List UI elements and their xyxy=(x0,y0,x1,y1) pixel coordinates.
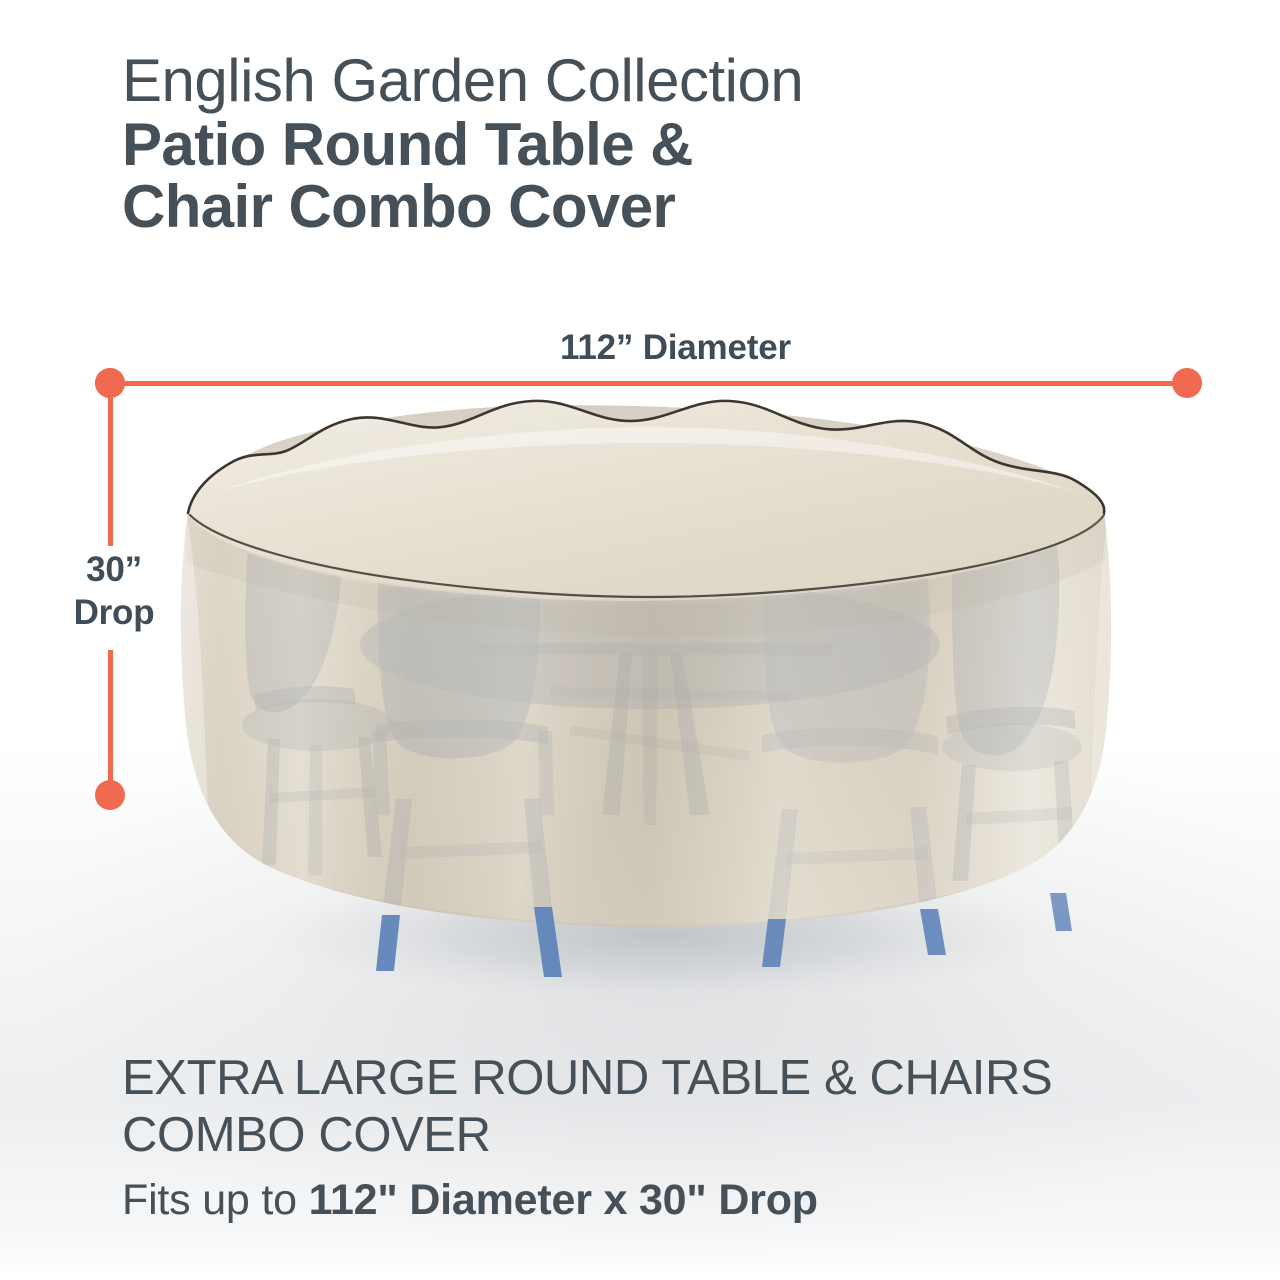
product-description: EXTRA LARGE ROUND TABLE & CHAIRS COMBO C… xyxy=(122,1050,1222,1226)
drop-label: 30” Drop xyxy=(44,548,184,634)
description-title-line-2: COMBO COVER xyxy=(122,1107,1222,1164)
fits-prefix: Fits up to xyxy=(122,1176,309,1224)
drop-dimension-line-upper xyxy=(108,381,113,546)
drop-dot-top xyxy=(95,368,125,398)
diameter-label: 112” Diameter xyxy=(560,328,791,368)
fits-value: 112" Diameter x 30" Drop xyxy=(309,1176,818,1224)
drop-label-line-2: Drop xyxy=(44,591,184,634)
diameter-dimension-line xyxy=(110,381,1190,386)
fits-up-to-line: Fits up to 112" Diameter x 30" Drop xyxy=(122,1174,1222,1226)
drop-dot-bottom xyxy=(95,780,125,810)
description-title-line-1: EXTRA LARGE ROUND TABLE & CHAIRS xyxy=(122,1050,1222,1107)
drop-dimension-line-lower xyxy=(108,650,113,800)
diameter-dot-right xyxy=(1172,368,1202,398)
drop-label-line-1: 30” xyxy=(44,548,184,591)
